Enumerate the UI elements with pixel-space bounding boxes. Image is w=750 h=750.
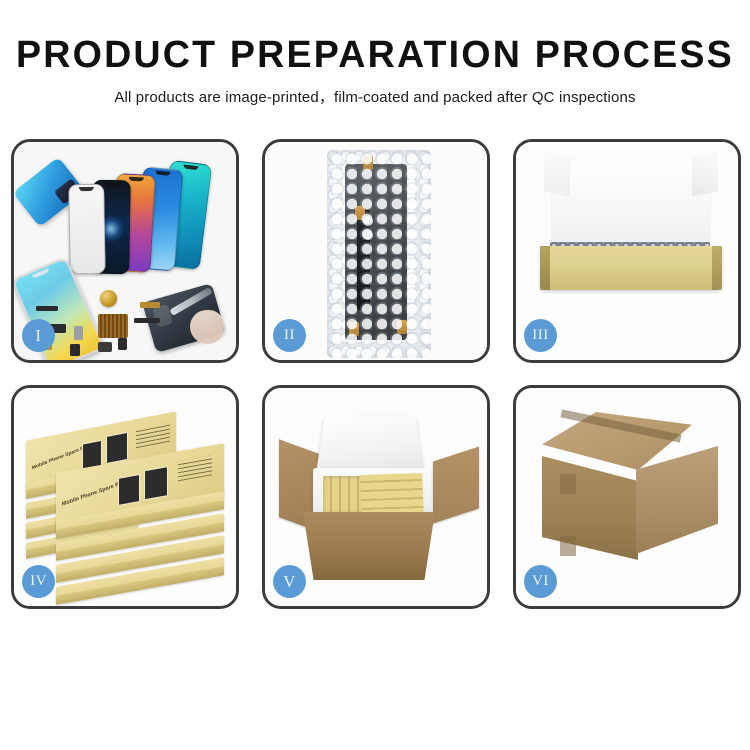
phone-screen-print-icon (118, 474, 140, 506)
phone-white-icon (68, 184, 106, 275)
phone-screen-print-icon (144, 466, 168, 500)
hand-icon (190, 310, 224, 344)
camera-part-icon (70, 344, 80, 356)
carton-body-icon (303, 512, 435, 580)
carton-tape-patch (560, 474, 576, 494)
tape-strip-icon (397, 320, 407, 334)
process-step-panel-2[interactable]: II (262, 139, 490, 363)
notch-icon (32, 268, 50, 279)
ic-chip-icon (98, 342, 112, 352)
spare-parts-group (36, 292, 226, 358)
page-header: PRODUCT PREPARATION PROCESS All products… (0, 0, 750, 107)
process-step-panel-4[interactable]: Mobile Phone Spare Parts Mobile Phone Sp… (11, 385, 239, 609)
carton-tape-patch (560, 536, 576, 556)
product-preparation-process-page: PRODUCT PREPARATION PROCESS All products… (0, 0, 750, 750)
lcd-screen-icon (345, 164, 407, 340)
ribbon-cable-icon (134, 318, 160, 323)
tape-strip-icon (355, 206, 365, 220)
step-badge-1: I (22, 319, 55, 352)
notch-icon (104, 183, 119, 187)
step-badge-4: IV (22, 565, 55, 598)
button-part-icon (118, 338, 127, 350)
speaker-coil-icon (100, 290, 117, 307)
sim-tray-icon (74, 326, 83, 340)
page-subtitle: All products are image-printed，film-coat… (0, 86, 750, 107)
process-step-grid: I II (11, 139, 741, 609)
sensor-hole-icon (363, 230, 373, 240)
chip-array-icon (98, 314, 128, 338)
process-step-panel-1[interactable]: I (11, 139, 239, 363)
notch-icon (128, 177, 143, 182)
process-step-panel-5[interactable]: V (262, 385, 490, 609)
step-badge-5: V (273, 565, 306, 598)
notch-icon (155, 171, 170, 176)
notch-icon (79, 187, 94, 191)
step-badge-3: III (524, 319, 557, 352)
flex-cable-icon (140, 302, 160, 308)
box-stack-group: Mobile Phone Spare Parts Mobile Phone Sp… (24, 412, 230, 588)
bubble-wrap-bag-icon (327, 150, 431, 358)
phone-screen-print-icon (106, 432, 128, 464)
connector-part-icon (36, 306, 58, 311)
styrofoam-lid-icon (316, 415, 424, 472)
step-badge-6: VI (524, 565, 557, 598)
process-step-panel-6[interactable]: VI (513, 385, 741, 609)
page-title: PRODUCT PREPARATION PROCESS (4, 36, 747, 76)
tape-strip-icon (363, 156, 373, 170)
step-badge-2: II (273, 319, 306, 352)
spec-text-lines (178, 455, 212, 481)
kraft-box-tray-icon (540, 246, 722, 290)
spec-text-lines (136, 422, 170, 449)
inner-retail-boxes-icon (360, 473, 423, 517)
process-step-panel-3[interactable]: III (513, 139, 741, 363)
notch-icon (183, 164, 198, 170)
tape-strip-icon (349, 322, 359, 336)
